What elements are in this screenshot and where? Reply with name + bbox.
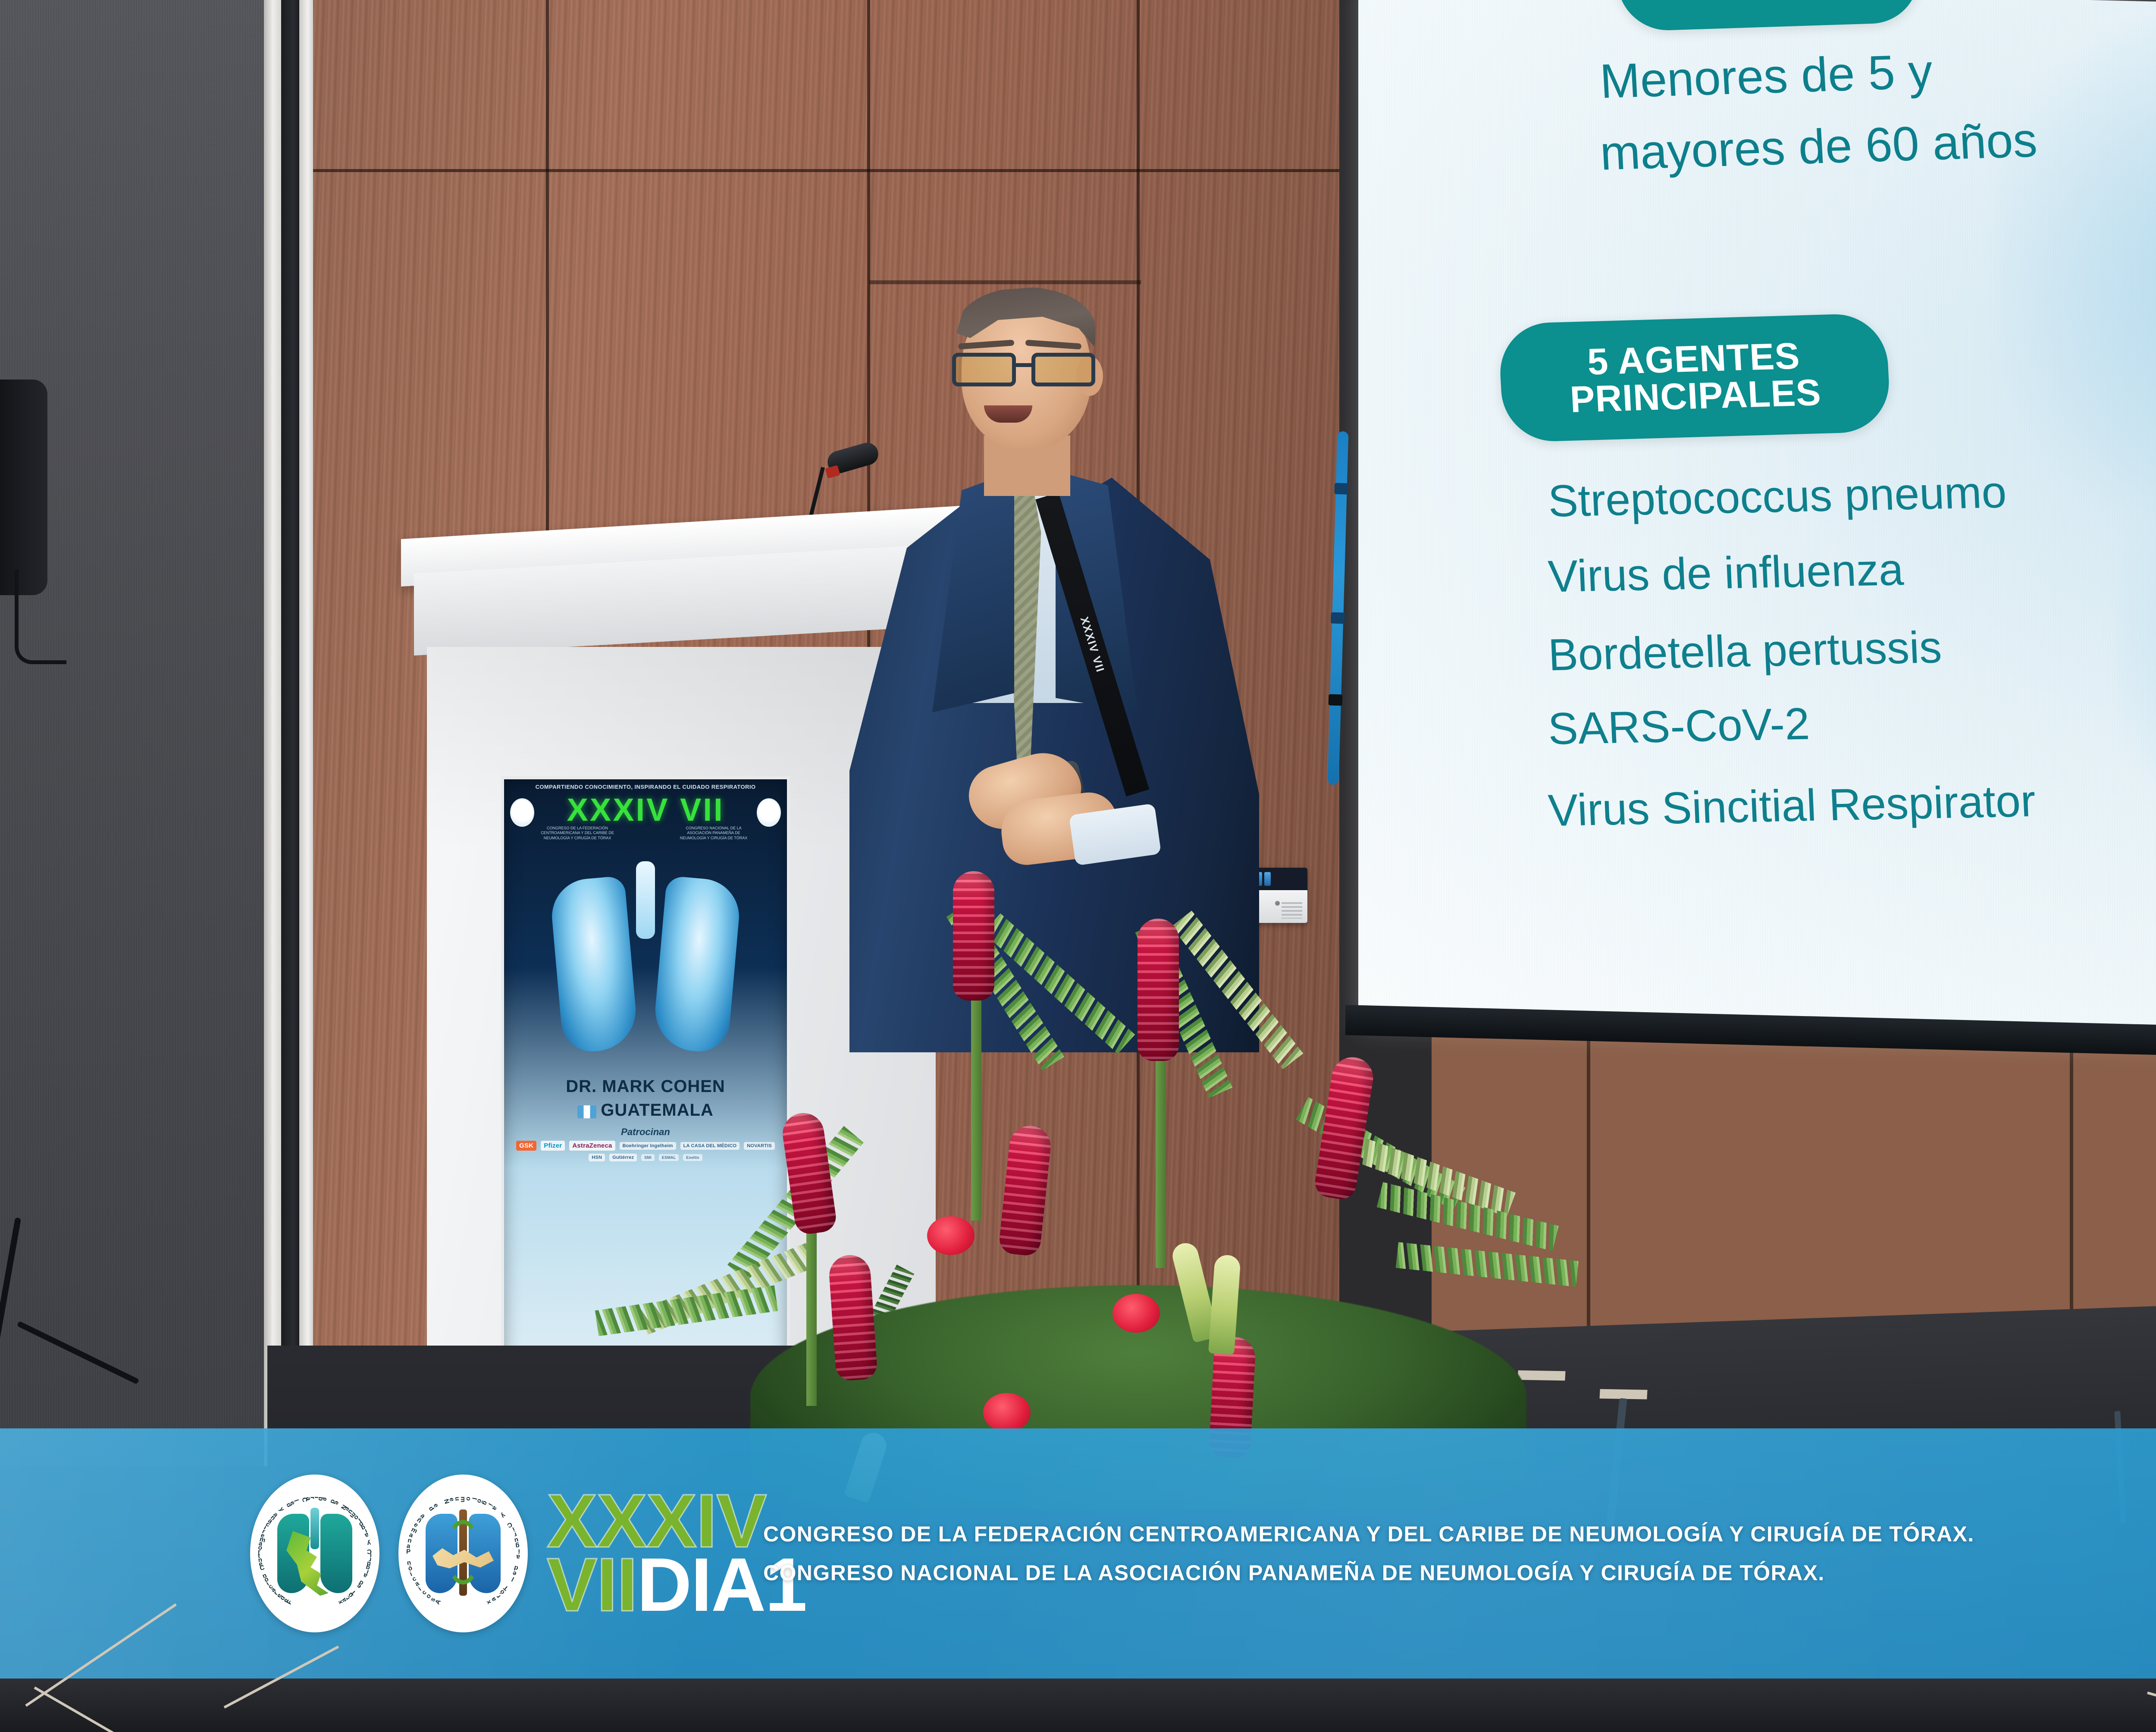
sponsor-logo: Gutiérrez [609,1154,637,1161]
ginger-stem [971,996,981,1221]
red-ginger-bloom [998,1124,1053,1257]
red-ginger-bloom [828,1254,878,1381]
slide-agent-1: Streptococcus pneumo [1547,467,2008,527]
glasses-bridge [1016,363,1033,367]
slide-map-graphic-2 [2117,423,2156,865]
conference-photo-scene: Menores de 5 y mayores de 60 años 5 AGEN… [0,0,2156,1732]
slide-heading-line-1: Menores de 5 y [1598,44,1934,110]
guatemala-flag-icon [577,1105,596,1118]
floor-tape-x-4 [2147,1691,2156,1732]
sponsor-logo: Exeltis [683,1154,702,1161]
carnation-bloom [1112,1294,1160,1333]
federacion-logo-lungs-icon [275,1508,355,1599]
asociacion-logo-lungs-icon [423,1508,503,1599]
wall-frame-dark [281,0,302,1466]
carnation-bloom [983,1393,1031,1432]
edition-mark: XXXIV VIIDIA1 [547,1490,732,1617]
slide-agent-3: Bordetella pertussis [1547,622,1943,681]
pill-label-line-2: PRINCIPALES [1569,371,1822,420]
logo-trachea [310,1508,319,1549]
seal-ring-char: x [336,1599,345,1606]
lens-left [952,353,1016,386]
ginger-stem [806,1225,817,1406]
floor-below-banner [0,1679,2156,1732]
eyeglasses-icon [951,350,1101,392]
banner-line-1: CONGRESO DE LA FEDERACIÓN CENTROAMERICAN… [763,1520,2156,1548]
speaker-cable [15,569,66,664]
slide-agent-5: Virus Sincitial Respirator [1547,775,2037,837]
sponsor-logo: HSN [589,1154,605,1161]
banner-line-2: CONGRESO NACIONAL DE LA ASOCIACIÓN PANAM… [763,1559,2156,1587]
poster-subtitle-left: CONGRESO DE LA FEDERACIÓN CENTROAMERICAN… [539,826,616,841]
poster-roman-numerals: XXXIV VII [504,791,787,828]
sponsor-logo: SMI [641,1154,655,1161]
floral-arrangement [724,854,1613,1527]
seal-ring-char: x [485,1599,493,1606]
edition-mark-line-2: VIIDIA1 [547,1553,732,1617]
floor-tape-x-2 [34,1686,192,1732]
poster-lungs-illustration [553,861,738,1055]
edition-mark-roman: VII [547,1543,637,1627]
red-ginger-bloom [953,871,994,1001]
lung-left [549,875,639,1054]
event-banner: Federación Centroamericana y del Caribe … [0,1428,2156,1679]
logo-lung-right [320,1514,352,1593]
federacion-logo: Federación Centroamericana y del Caribe … [250,1475,379,1632]
slide-agent-4: SARS-CoV-2 [1547,698,1811,755]
lung-trachea [636,861,655,939]
asociacion-panamena-logo: Asociación Panameña de Neumología y Ciru… [398,1475,528,1632]
slide-agent-2: Virus de influenza [1547,544,1905,603]
sponsor-logo: ESMAL [659,1154,679,1161]
carnation-bloom [927,1216,975,1255]
slide-pill-agentes: 5 AGENTES PRINCIPALES [1498,313,1891,442]
lens-right [1031,353,1095,386]
sponsor-logo: GSK [516,1141,536,1151]
sponsor-logo: Pfizer [541,1141,565,1151]
poster-subtitle-right: CONGRESO NACIONAL DE LA ASOCIACIÓN PANAM… [675,826,752,841]
sponsor-logo: AstraZeneca [569,1141,615,1151]
ginger-stem [1156,1035,1166,1268]
sponsor-logo: Boehringer Ingelheim [620,1142,676,1150]
left-acoustic-wall-panel [0,0,276,1466]
poster-tagline: COMPARTIENDO CONOCIMIENTO, INSPIRANDO EL… [504,784,787,790]
floor-speaker-cabinet [0,380,47,595]
red-ginger-bloom [1138,919,1179,1061]
banner-congress-text: CONGRESO DE LA FEDERACIÓN CENTROAMERICAN… [751,1520,2156,1587]
